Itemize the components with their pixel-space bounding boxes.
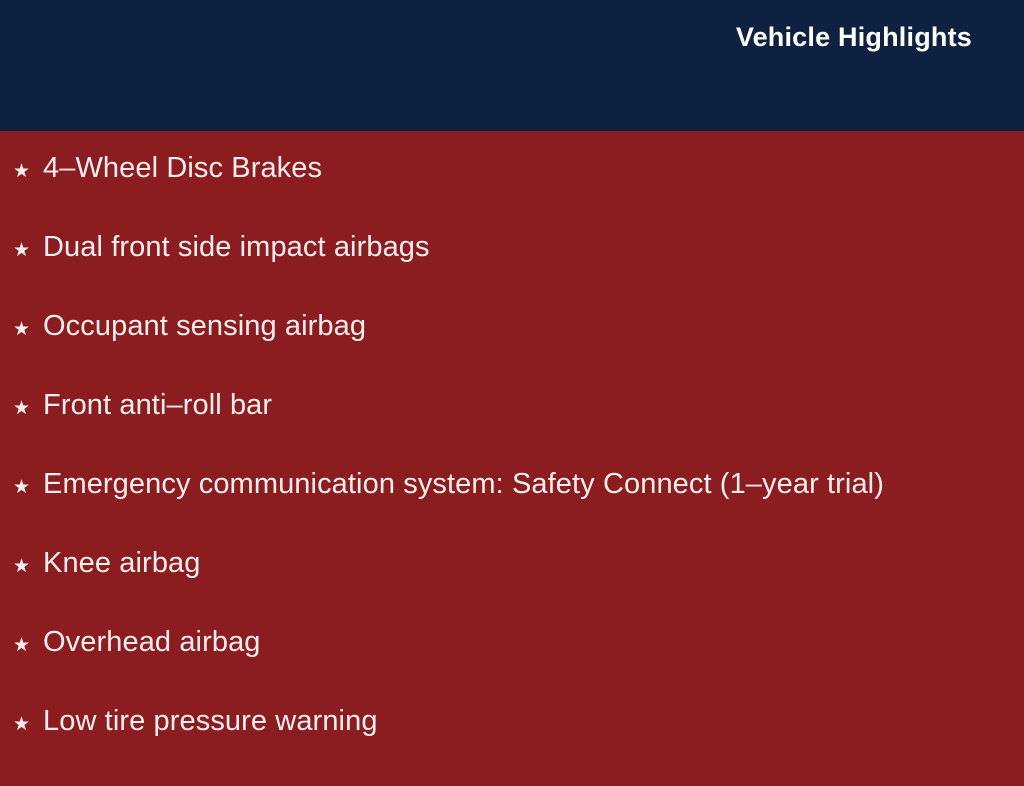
list-item: ★ 4–Wheel Disc Brakes xyxy=(0,154,1024,233)
star-icon: ★ xyxy=(13,399,43,418)
page-title: Vehicle Highlights xyxy=(736,24,972,51)
list-item: ★ Emergency communication system: Safety… xyxy=(0,470,1024,549)
list-item-label: Low tire pressure warning xyxy=(43,707,378,736)
star-icon: ★ xyxy=(13,162,43,181)
star-icon: ★ xyxy=(13,715,43,734)
list-item: ★ Dual front side impact airbags xyxy=(0,233,1024,312)
vehicle-feature-list: ★ 4–Wheel Disc Brakes ★ Dual front side … xyxy=(0,154,1024,786)
slide-header: Vehicle Highlights xyxy=(0,0,1024,131)
list-item-label: Front anti–roll bar xyxy=(43,391,272,420)
star-icon: ★ xyxy=(13,557,43,576)
list-item: ★ Front anti–roll bar xyxy=(0,391,1024,470)
list-item: ★ Overhead airbag xyxy=(0,628,1024,707)
slide-body: ★ 4–Wheel Disc Brakes ★ Dual front side … xyxy=(0,131,1024,786)
list-item-label: Overhead airbag xyxy=(43,628,261,657)
star-icon: ★ xyxy=(13,241,43,260)
star-icon: ★ xyxy=(13,636,43,655)
star-icon: ★ xyxy=(13,320,43,339)
list-item-label: 4–Wheel Disc Brakes xyxy=(43,154,322,183)
list-item: ★ Knee airbag xyxy=(0,549,1024,628)
list-item: ★ Low tire pressure warning xyxy=(0,707,1024,786)
list-item-label: Dual front side impact airbags xyxy=(43,233,430,262)
list-item: ★ Occupant sensing airbag xyxy=(0,312,1024,391)
slide-root: Vehicle Highlights ★ 4–Wheel Disc Brakes… xyxy=(0,0,1024,768)
list-item-label: Occupant sensing airbag xyxy=(43,312,366,341)
list-item-label: Knee airbag xyxy=(43,549,201,578)
list-item-label: Emergency communication system: Safety C… xyxy=(43,470,884,499)
star-icon: ★ xyxy=(13,478,43,497)
